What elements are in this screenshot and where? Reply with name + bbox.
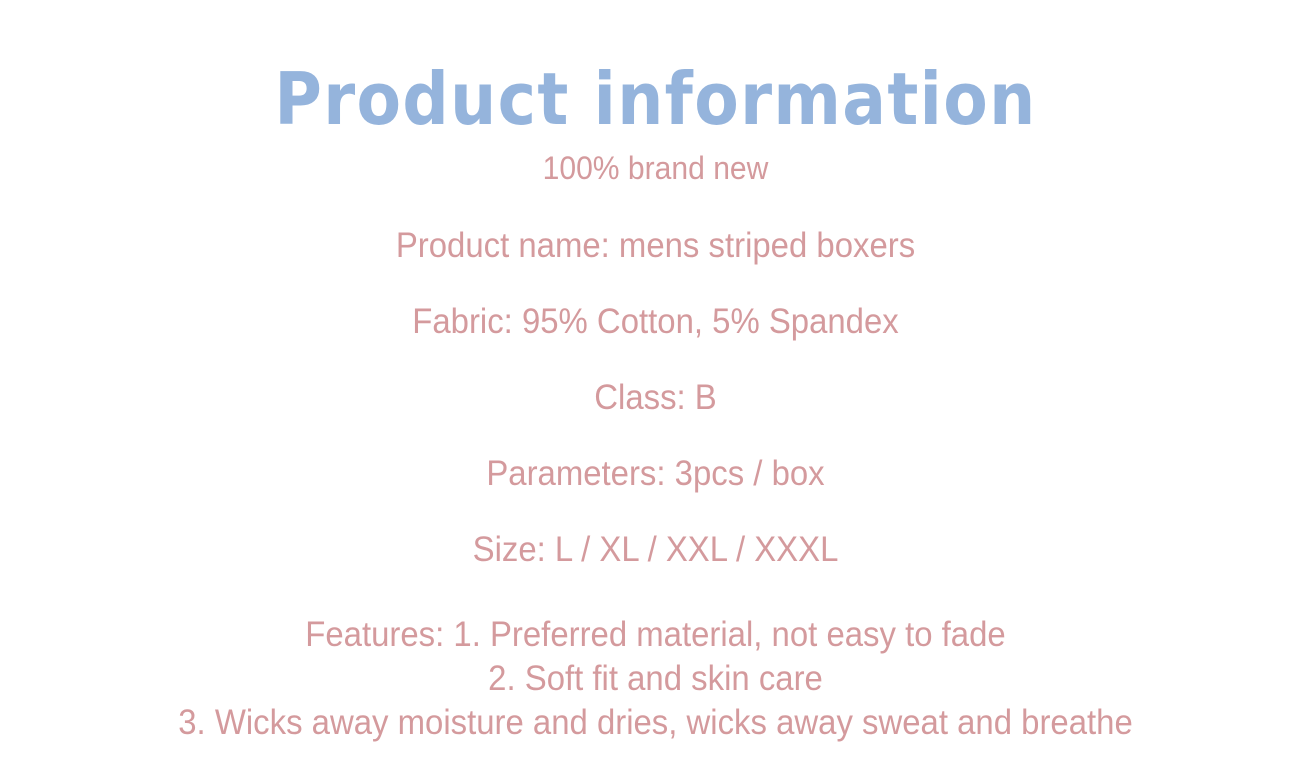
product-spec-list: 100% brand new Product name: mens stripe… — [0, 152, 1311, 608]
feature-line-1: Features: 1. Preferred material, not eas… — [39, 613, 1271, 657]
spec-line-condition: 100% brand new — [39, 152, 1271, 184]
product-information-page: Product information 100% brand new Produ… — [0, 0, 1311, 778]
spec-line-size: Size: L / XL / XXL / XXXL — [39, 532, 1271, 567]
spec-line-fabric: Fabric: 95% Cotton, 5% Spandex — [39, 304, 1271, 339]
page-title: Product information — [66, 63, 1246, 135]
feature-line-2: 2. Soft fit and skin care — [39, 657, 1271, 701]
product-features-list: Features: 1. Preferred material, not eas… — [0, 613, 1311, 745]
spec-line-class: Class: B — [39, 380, 1271, 415]
feature-line-3: 3. Wicks away moisture and dries, wicks … — [39, 701, 1271, 745]
spec-line-product-name: Product name: mens striped boxers — [39, 228, 1271, 263]
spec-line-parameters: Parameters: 3pcs / box — [39, 456, 1271, 491]
